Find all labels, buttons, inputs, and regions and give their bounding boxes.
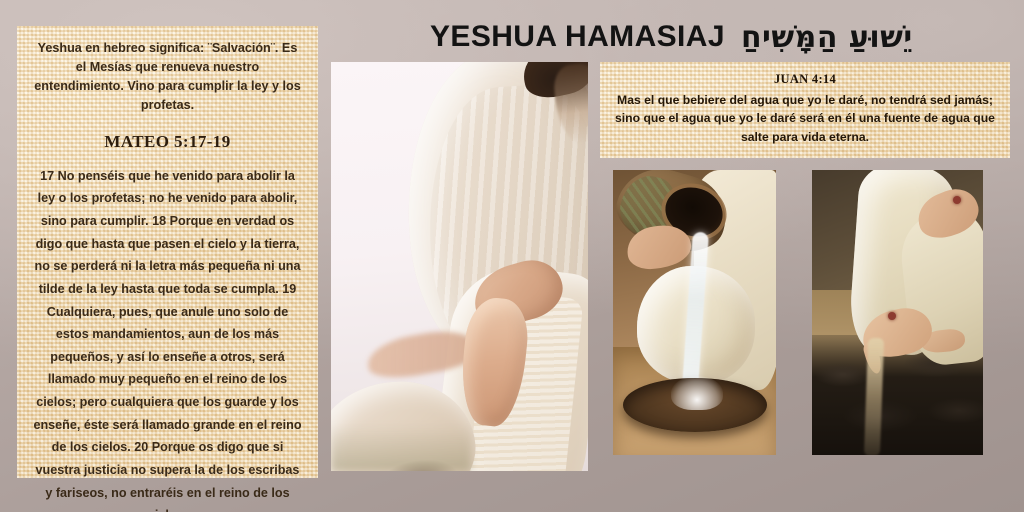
page-title: YESHUA HAMASIAJ יֵשׁוּעַ הַמָּשִׁיחַ [430, 16, 890, 58]
page-title-hebrew: יֵשׁוּעַ הַמָּשִׁיחַ [741, 20, 913, 55]
ground-blur-shape [331, 425, 471, 471]
left-panel-body-text: 17 No penséis que he venido para abolir … [31, 165, 304, 512]
jesus-holding-hand-photo [331, 62, 588, 471]
page-title-latin: YESHUA HAMASIAJ [430, 20, 725, 54]
pouring-water-jug-photo [613, 170, 776, 455]
left-panel-reference: MATEO 5:17-19 [104, 132, 230, 152]
hand-writing-in-sand-photo [812, 170, 983, 455]
left-panel-intro-text: Yeshua en hebreo significa: ¨Salvación¨.… [31, 39, 304, 116]
slide-canvas: YESHUA HAMASIAJ יֵשׁוּעַ הַמָּשִׁיחַ Yes… [0, 0, 1024, 512]
water-splash-shape [671, 376, 723, 410]
juan-box-reference: JUAN 4:14 [774, 72, 836, 87]
juan-scripture-box: JUAN 4:14 Mas el que bebiere del agua qu… [600, 62, 1010, 158]
nail-mark-icon [888, 312, 896, 320]
juan-box-body-text: Mas el que bebiere del agua que yo le da… [612, 91, 998, 146]
left-scripture-panel: Yeshua en hebreo significa: ¨Salvación¨.… [17, 26, 318, 478]
nail-mark-icon [953, 196, 961, 204]
